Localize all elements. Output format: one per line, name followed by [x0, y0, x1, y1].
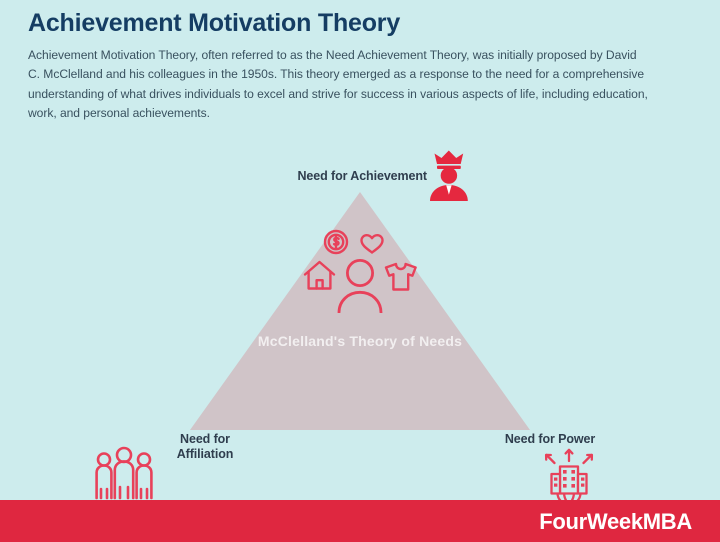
- house-icon: [305, 262, 334, 289]
- center-needs-icon-cluster: [300, 228, 420, 313]
- crowned-person-icon: [420, 150, 480, 202]
- person-icon: [339, 260, 381, 312]
- corner-label-power: Need for Power: [490, 432, 610, 447]
- corner-label-achievement: Need for Achievement: [287, 169, 427, 184]
- corner-label-achievement-text: Need for Achievement: [297, 169, 427, 183]
- header-block: Achievement Motivation Theory Achievemen…: [28, 10, 648, 124]
- brand-logo-text: FourWeekMBA: [539, 509, 692, 535]
- building-globe-arrows-icon: [538, 448, 600, 502]
- dollar-coin-icon: [325, 231, 347, 253]
- infographic-canvas: Achievement Motivation Theory Achievemen…: [0, 0, 720, 542]
- people-group-icon: [93, 446, 155, 502]
- pyramid-center-caption: McClelland's Theory of Needs: [190, 333, 530, 349]
- corner-label-affiliation-line2: Affiliation: [140, 447, 270, 462]
- intro-paragraph: Achievement Motivation Theory, often ref…: [28, 46, 648, 124]
- tshirt-icon: [386, 264, 416, 290]
- corner-label-power-text: Need for Power: [505, 432, 595, 446]
- corner-label-affiliation-line1: Need for: [140, 432, 270, 447]
- heart-icon: [362, 235, 383, 252]
- pyramid-triangle-shape: [190, 192, 530, 430]
- corner-label-affiliation: Need for Affiliation: [140, 432, 270, 463]
- page-title: Achievement Motivation Theory: [28, 10, 648, 38]
